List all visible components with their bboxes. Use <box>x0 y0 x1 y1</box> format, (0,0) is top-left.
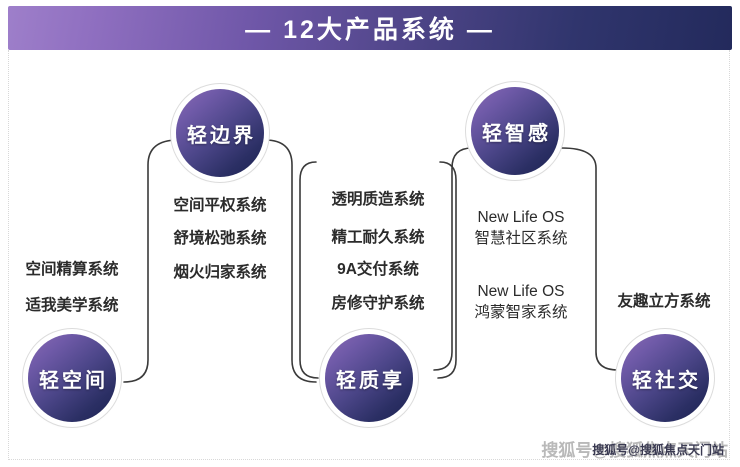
leaf-zhigan-1-line1: New Life OS <box>474 207 567 228</box>
leaf-zhixiang-2: 精工耐久系统 <box>331 228 424 248</box>
node-label-qing-kong-jian: 轻空间 <box>36 364 108 393</box>
leaf-zhixiang-4: 房修守护系统 <box>331 294 424 314</box>
node-label-qing-zhi-xiang: 轻质享 <box>333 364 405 393</box>
leaf-zhigan-2-line2: 鸿蒙智家系统 <box>474 302 567 323</box>
node-label-qing-zhi-gan: 轻智感 <box>479 117 551 146</box>
leaf-bianjie-1: 空间平权系统 <box>173 196 266 216</box>
header-banner: — 12大产品系统 — <box>8 6 732 50</box>
node-qing-zhi-xiang[interactable]: 轻质享 <box>325 334 413 422</box>
node-qing-kong-jian[interactable]: 轻空间 <box>28 334 116 422</box>
leaf-zhigan-1-line2: 智慧社区系统 <box>474 228 567 249</box>
infographic-canvas: — 12大产品系统 — 轻边界 轻智感 轻空间 轻质享 轻社交 空间精算系统 适… <box>0 0 740 467</box>
leaf-zhigan-2: New Life OS 鸿蒙智家系统 <box>474 281 567 323</box>
leaf-bianjie-2: 舒境松弛系统 <box>173 229 266 249</box>
leaf-kongjian-2: 适我美学系统 <box>25 296 118 316</box>
node-qing-bian-jie[interactable]: 轻边界 <box>176 89 264 177</box>
leaf-kongjian-1: 空间精算系统 <box>25 260 118 280</box>
page-title: — 12大产品系统 — <box>245 10 495 46</box>
node-label-qing-she-jiao: 轻社交 <box>629 364 701 393</box>
leaf-zhigan-2-line1: New Life OS <box>474 281 567 302</box>
watermark-front: 搜狐号@搜狐焦点天门站 <box>592 441 724 458</box>
leaf-zhixiang-1: 透明质造系统 <box>331 190 424 210</box>
leaf-bianjie-3: 烟火归家系统 <box>173 263 266 283</box>
node-qing-she-jiao[interactable]: 轻社交 <box>621 334 709 422</box>
leaf-zhigan-1: New Life OS 智慧社区系统 <box>474 207 567 249</box>
node-label-qing-bian-jie: 轻边界 <box>184 119 256 148</box>
leaf-zhixiang-3: 9A交付系统 <box>337 260 419 280</box>
leaf-shejiao-1: 友趣立方系统 <box>617 292 710 312</box>
node-qing-zhi-gan[interactable]: 轻智感 <box>471 87 559 175</box>
